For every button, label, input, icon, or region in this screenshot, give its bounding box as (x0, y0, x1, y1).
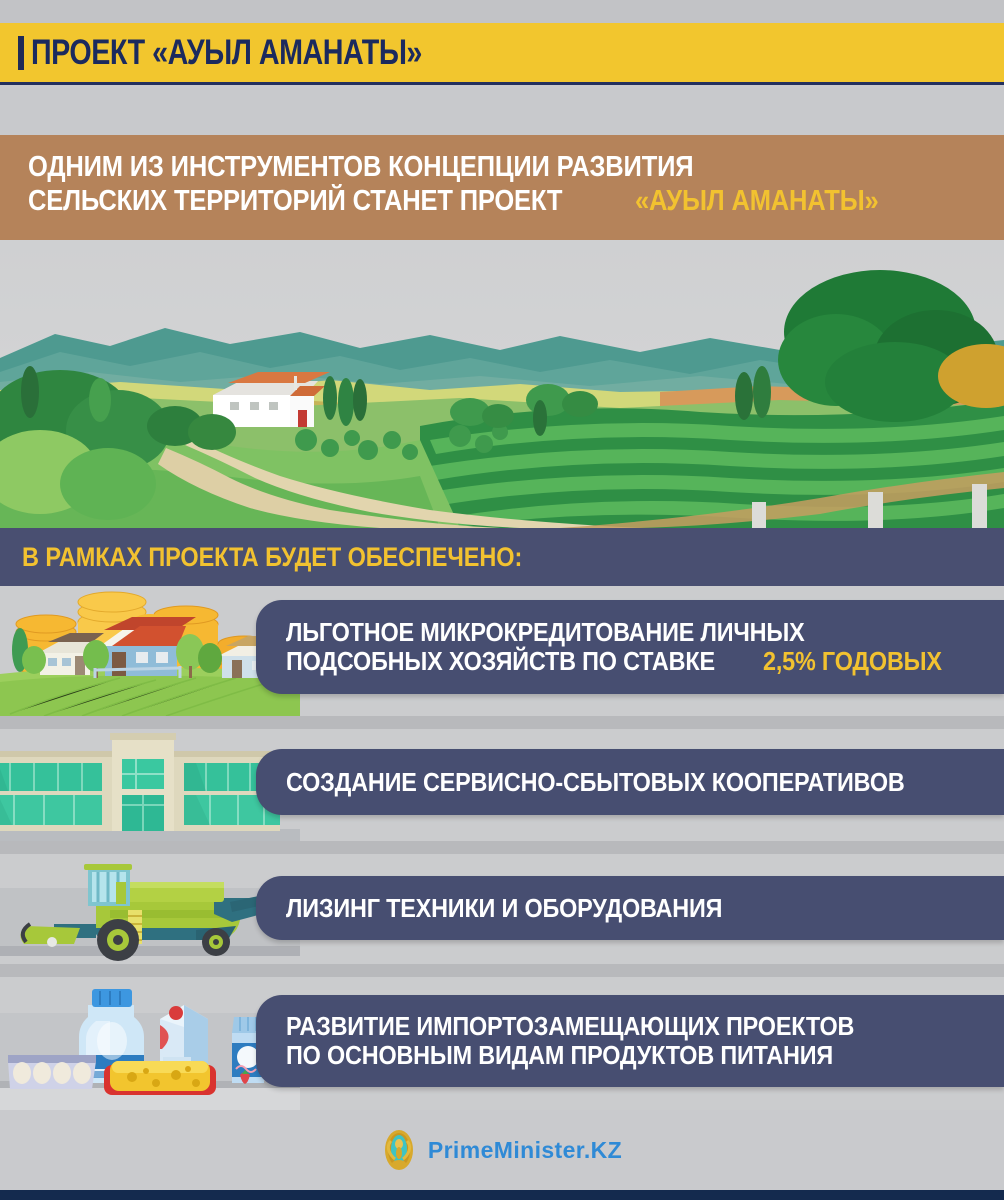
intro-text-highlight: «АУЫЛ АМАНАТЫ» (635, 186, 879, 217)
list-item-pill: РАЗВИТИЕ ИМПОРТОЗАМЕЩАЮЩИХ ПРОЕКТОВ ПО О… (256, 995, 1004, 1087)
item-2-line-1: СОЗДАНИЕ СЕРВИСНО-СБЫТОВЫХ КООПЕРАТИВОВ (286, 768, 905, 797)
list-item: ЛИЗИНГ ТЕХНИКИ И ОБОРУДОВАНИЯ (0, 854, 1004, 964)
bottom-bar (0, 1190, 1004, 1200)
list-item-line-1: ЛЬГОТНОЕ МИКРОКРЕДИТОВАНИЕ ЛИЧНЫХ (286, 618, 986, 647)
list-item: РАЗВИТИЕ ИМПОРТОЗАМЕЩАЮЩИХ ПРОЕКТОВ ПО О… (0, 977, 1004, 1110)
page-title-bar: ПРОЕКТ «АУЫЛ АМАНАТЫ» (0, 23, 1004, 85)
intro-banner: ОДНИМ ИЗ ИНСТРУМЕНТОВ КОНЦЕПЦИИ РАЗВИТИЯ… (0, 135, 1004, 240)
row-separator (0, 841, 1004, 854)
item-1-line-2: ПОДСОБНЫХ ХОЗЯЙСТВ ПО СТАВКЕ (286, 647, 715, 676)
intro-banner-line-1: ОДНИМ ИЗ ИНСТРУМЕНТОВ КОНЦЕПЦИИ РАЗВИТИЯ (28, 152, 982, 183)
row-separator (0, 716, 1004, 729)
dairy-products-icon (0, 977, 300, 1110)
list-item-line-1: РАЗВИТИЕ ИМПОРТОЗАМЕЩАЮЩИХ ПРОЕКТОВ (286, 1012, 986, 1041)
infographic-page: ПРОЕКТ «АУЫЛ АМАНАТЫ» ОДНИМ ИЗ ИНСТРУМЕН… (0, 0, 1004, 1200)
kazakhstan-emblem-icon (382, 1129, 416, 1171)
hero-landscape-illustration (0, 240, 1004, 528)
top-gray-strip (0, 0, 1004, 23)
item-4-line-1: РАЗВИТИЕ ИМПОРТОЗАМЕЩАЮЩИХ ПРОЕКТОВ (286, 1012, 854, 1041)
combine-harvester-icon (0, 854, 300, 964)
footer-logo-text[interactable]: PrimeMinister.KZ (428, 1137, 622, 1164)
item-1-highlight: 2,5% ГОДОВЫХ (763, 647, 942, 676)
list-item-pill: ЛИЗИНГ ТЕХНИКИ И ОБОРУДОВАНИЯ (256, 876, 1004, 940)
title-accent-bar (18, 36, 24, 70)
list-item: ЛЬГОТНОЕ МИКРОКРЕДИТОВАНИЕ ЛИЧНЫХ ПОДСОБ… (0, 586, 1004, 716)
list-item-line-1: СОЗДАНИЕ СЕРВИСНО-СБЫТОВЫХ КООПЕРАТИВОВ (286, 768, 986, 797)
list-item-pill: СОЗДАНИЕ СЕРВИСНО-СБЫТОВЫХ КООПЕРАТИВОВ (256, 749, 1004, 815)
commercial-building-icon (0, 729, 300, 841)
list-item-line-2: ПОДСОБНЫХ ХОЗЯЙСТВ ПО СТАВКЕ 2,5% ГОДОВЫ… (286, 647, 986, 676)
section-header-title: В РАМКАХ ПРОЕКТА БУДЕТ ОБЕСПЕЧЕНО: (22, 542, 522, 573)
list-item: СОЗДАНИЕ СЕРВИСНО-СБЫТОВЫХ КООПЕРАТИВОВ (0, 729, 1004, 841)
list-item-line-2: ПО ОСНОВНЫМ ВИДАМ ПРОДУКТОВ ПИТАНИЯ (286, 1041, 986, 1070)
item-1-line-1: ЛЬГОТНОЕ МИКРОКРЕДИТОВАНИЕ ЛИЧНЫХ (286, 618, 805, 647)
village-houses-with-coins-icon (0, 586, 300, 716)
footer: PrimeMinister.KZ (0, 1110, 1004, 1190)
item-3-line-1: ЛИЗИНГ ТЕХНИКИ И ОБОРУДОВАНИЯ (286, 894, 722, 923)
intro-banner-line-2: СЕЛЬСКИХ ТЕРРИТОРИЙ СТАНЕТ ПРОЕКТ «АУЫЛ … (28, 186, 982, 217)
section-header: В РАМКАХ ПРОЕКТА БУДЕТ ОБЕСПЕЧЕНО: (0, 528, 1004, 586)
intro-text-line2: СЕЛЬСКИХ ТЕРРИТОРИЙ СТАНЕТ ПРОЕКТ (28, 186, 562, 217)
list-item-pill: ЛЬГОТНОЕ МИКРОКРЕДИТОВАНИЕ ЛИЧНЫХ ПОДСОБ… (256, 600, 1004, 694)
intro-text-line1: ОДНИМ ИЗ ИНСТРУМЕНТОВ КОНЦЕПЦИИ РАЗВИТИЯ (28, 152, 693, 183)
gap-strip (0, 88, 1004, 135)
item-4-line-2: ПО ОСНОВНЫМ ВИДАМ ПРОДУКТОВ ПИТАНИЯ (286, 1041, 833, 1070)
row-separator (0, 964, 1004, 977)
page-title: ПРОЕКТ «АУЫЛ АМАНАТЫ» (31, 35, 422, 70)
list-item-line-1: ЛИЗИНГ ТЕХНИКИ И ОБОРУДОВАНИЯ (286, 894, 986, 923)
